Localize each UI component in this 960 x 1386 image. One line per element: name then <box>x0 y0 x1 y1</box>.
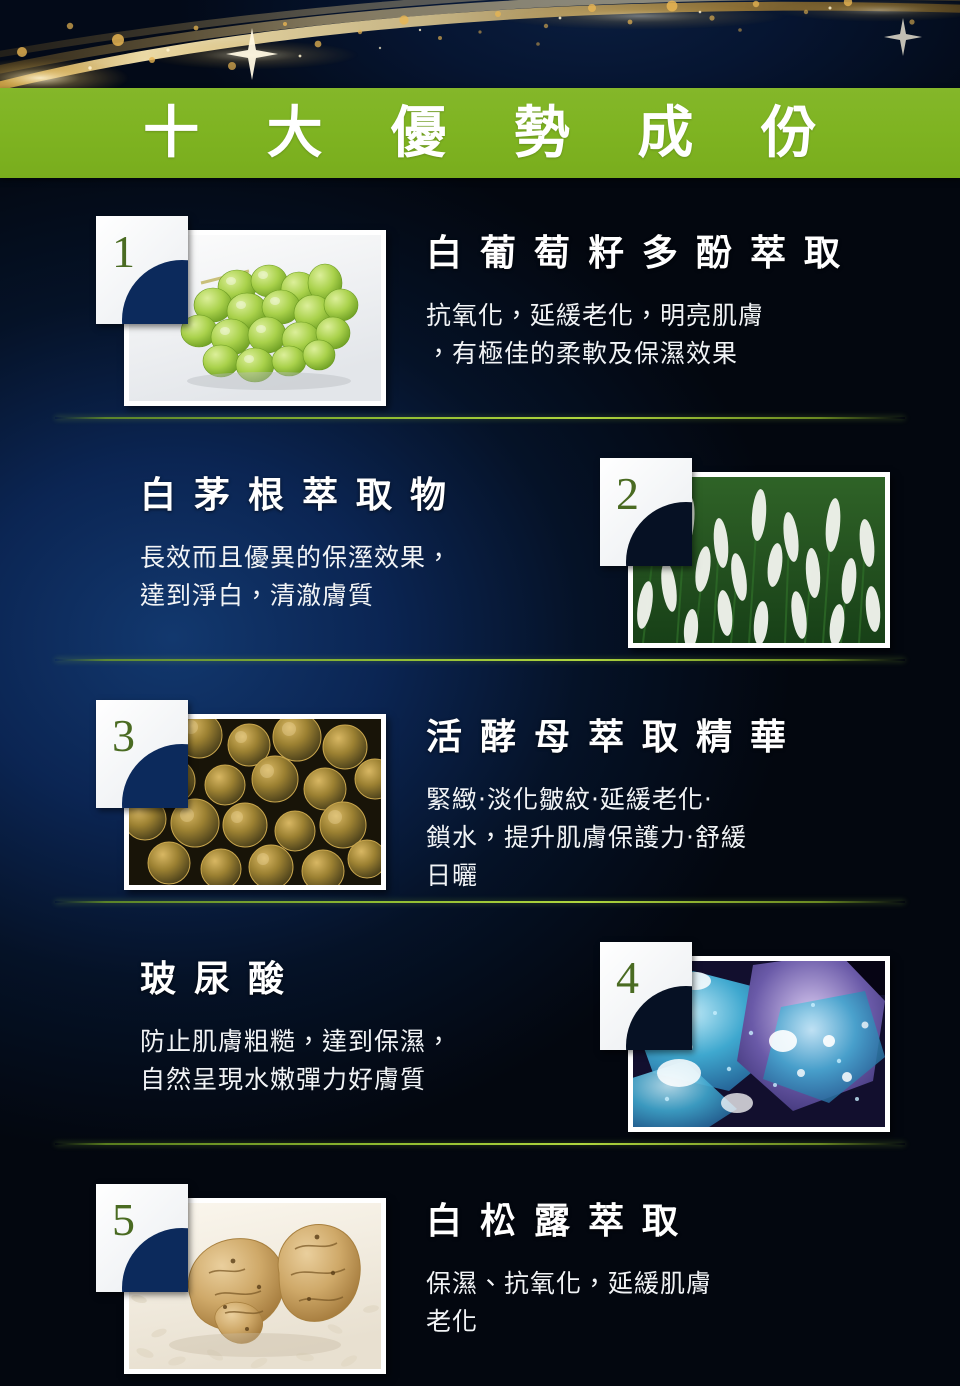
ingredient-description: 抗氧化，延緩老化，明亮肌膚 ，有極佳的柔軟及保濕效果 <box>426 297 914 373</box>
ingredient-heading: 白 葡 萄 籽 多 酚 萃 取 <box>426 230 914 275</box>
ingredient-media-2: 2 <box>600 458 900 658</box>
desc-line: 自然呈現水嫩彈力好膚質 <box>140 1061 580 1099</box>
ingredient-description: 防止肌膚粗糙，達到保濕， 自然呈現水嫩彈力好膚質 <box>140 1023 580 1099</box>
ingredient-number: 2 <box>616 471 639 517</box>
ingredient-item-2: 2 白 茅 根 萃 取 物 長效而且優異的保溼效果， 達到淨白，清澈膚質 <box>0 420 960 658</box>
desc-line: 保濕、抗氧化，延緩肌膚 <box>426 1265 914 1303</box>
ingredient-media-4: 4 <box>600 942 900 1142</box>
ingredient-heading: 玻 尿 酸 <box>140 956 580 1001</box>
page-title-banner: 十 大 優 勢 成 份 <box>0 88 960 178</box>
desc-line: 抗氧化，延緩老化，明亮肌膚 <box>426 297 914 335</box>
ingredient-number-badge-1: 1 <box>96 216 188 324</box>
ingredient-description: 緊緻‧淡化皺紋‧延緩老化‧ 鎖水，提升肌膚保護力‧舒緩 日曬 <box>426 781 914 895</box>
desc-line: 鎖水，提升肌膚保護力‧舒緩 <box>426 819 914 857</box>
desc-line: 老化 <box>426 1303 914 1341</box>
ingredient-text-1: 白 葡 萄 籽 多 酚 萃 取 抗氧化，延緩老化，明亮肌膚 ，有極佳的柔軟及保濕… <box>396 178 960 373</box>
ingredient-heading: 白 松 露 萃 取 <box>426 1198 914 1243</box>
ingredient-number: 5 <box>112 1197 135 1243</box>
ingredient-number-badge-3: 3 <box>96 700 188 808</box>
ingredient-media-3: 3 <box>96 700 396 900</box>
ingredient-item-3: 3 活 酵 母 萃 取 精 華 緊緻‧淡化皺紋‧延緩老化‧ 鎖水，提升肌膚保護力… <box>0 662 960 900</box>
ingredient-media-1: 1 <box>96 216 396 416</box>
gold-arc-icon <box>0 0 960 90</box>
page-title: 十 大 優 勢 成 份 <box>117 105 843 161</box>
gold-sparkle-header-decoration <box>0 0 960 90</box>
desc-line: 日曬 <box>426 857 914 895</box>
ingredient-description: 保濕、抗氧化，延緩肌膚 老化 <box>426 1265 914 1341</box>
ingredient-text-4: 玻 尿 酸 防止肌膚粗糙，達到保濕， 自然呈現水嫩彈力好膚質 <box>0 904 600 1099</box>
ingredient-text-3: 活 酵 母 萃 取 精 華 緊緻‧淡化皺紋‧延緩老化‧ 鎖水，提升肌膚保護力‧舒… <box>396 662 960 895</box>
desc-line: 長效而且優異的保溼效果， <box>140 539 580 577</box>
desc-line: ，有極佳的柔軟及保濕效果 <box>426 335 914 373</box>
ingredient-item-5: 5 白 松 露 萃 取 保濕、抗氧化，延緩肌膚 老化 <box>0 1146 960 1384</box>
ingredient-number-badge-5: 5 <box>96 1184 188 1292</box>
ingredient-media-5: 5 <box>96 1184 396 1384</box>
ingredients-poster: 十 大 優 勢 成 份 <box>0 0 960 1386</box>
ingredient-list: 1 白 葡 萄 籽 多 酚 萃 取 抗氧化，延緩老化，明亮肌膚 ，有極佳的柔軟及… <box>0 178 960 1384</box>
ingredient-text-5: 白 松 露 萃 取 保濕、抗氧化，延緩肌膚 老化 <box>396 1146 960 1341</box>
ingredient-number: 1 <box>112 229 135 275</box>
desc-line: 緊緻‧淡化皺紋‧延緩老化‧ <box>426 781 914 819</box>
ingredient-description: 長效而且優異的保溼效果， 達到淨白，清澈膚質 <box>140 539 580 615</box>
ingredient-item-4: 4 玻 尿 酸 防止肌膚粗糙，達到保濕， 自然呈現水嫩彈力好膚質 <box>0 904 960 1142</box>
ingredient-number-badge-2: 2 <box>600 458 692 566</box>
ingredient-number: 4 <box>616 955 639 1001</box>
ingredient-heading: 白 茅 根 萃 取 物 <box>140 472 580 517</box>
desc-line: 達到淨白，清澈膚質 <box>140 577 580 615</box>
ingredient-number-badge-4: 4 <box>600 942 692 1050</box>
ingredient-text-2: 白 茅 根 萃 取 物 長效而且優異的保溼效果， 達到淨白，清澈膚質 <box>0 420 600 615</box>
ingredient-number: 3 <box>112 713 135 759</box>
ingredient-item-1: 1 白 葡 萄 籽 多 酚 萃 取 抗氧化，延緩老化，明亮肌膚 ，有極佳的柔軟及… <box>0 178 960 416</box>
desc-line: 防止肌膚粗糙，達到保濕， <box>140 1023 580 1061</box>
ingredient-heading: 活 酵 母 萃 取 精 華 <box>426 714 914 759</box>
